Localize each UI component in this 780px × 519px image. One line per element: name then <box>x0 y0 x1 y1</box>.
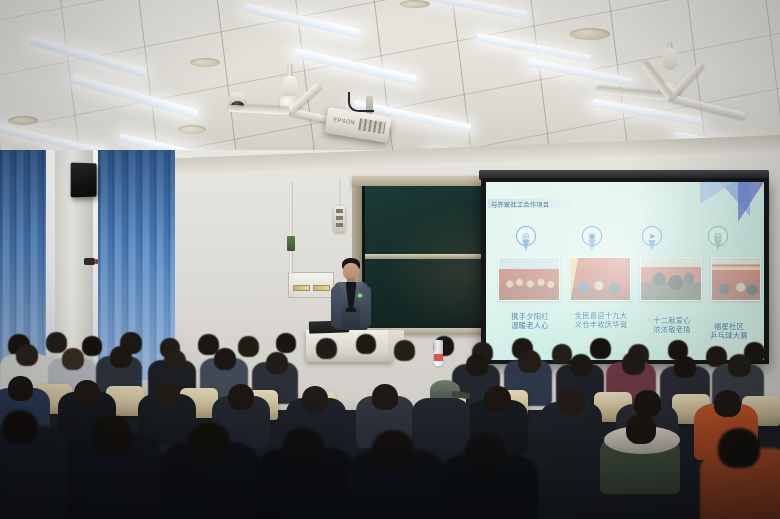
audience-head <box>92 416 132 454</box>
power-socket <box>336 216 343 220</box>
audience-head <box>276 333 296 353</box>
pin-glyph-pointer-icon: ➤ <box>648 231 655 240</box>
audience-head <box>82 336 102 356</box>
fan-mount-plate <box>178 125 206 134</box>
slide-caption-1: 携手夕阳红 温暖老人心 <box>492 312 568 331</box>
projector-cable <box>348 92 374 112</box>
slide-photo-3 <box>640 257 702 301</box>
fan-blade <box>669 94 746 120</box>
photo-projection-wash <box>499 258 559 300</box>
caption-line-1: 全民喜迎十九大 <box>562 311 640 320</box>
audience-head <box>674 356 696 378</box>
presenter-badge <box>358 294 362 297</box>
lecture-hall-photo: EPSON <box>0 0 780 519</box>
pin-marker-1: ◎ <box>516 226 536 252</box>
audience-head <box>728 354 751 377</box>
fan-mount-plate <box>400 0 430 8</box>
presenter-arm-left <box>331 286 342 328</box>
water-bottle <box>434 340 443 366</box>
fan-canopy <box>663 48 677 70</box>
fan-canopy <box>283 76 297 98</box>
audience-head <box>8 376 33 401</box>
wall-speaker <box>71 163 97 198</box>
audience-head <box>214 348 236 370</box>
audience-head <box>518 350 541 373</box>
notice-row <box>293 285 310 291</box>
bottle-label <box>434 354 443 361</box>
audience-head <box>718 428 760 468</box>
audience-head <box>590 338 611 359</box>
audience-head <box>316 338 337 359</box>
presenter-arm-right <box>360 286 371 328</box>
audience-head <box>154 382 180 408</box>
slide-photo-1 <box>498 257 560 301</box>
pin-glyph-folder-icon: ▣ <box>588 231 596 240</box>
pin-marker-3: ➤ <box>642 226 662 252</box>
wall-junction-box <box>287 236 295 251</box>
audience-head <box>282 428 324 468</box>
caption-line-1: 携手夕阳红 <box>492 312 568 321</box>
audience-head <box>74 380 100 406</box>
slide-decoration-triangle <box>738 182 764 222</box>
wall-conduit-pipe <box>289 182 293 274</box>
audience-head <box>266 352 288 374</box>
audience-head <box>302 386 328 412</box>
ceiling-fan <box>600 42 740 122</box>
audience-head <box>16 344 38 366</box>
slide-pin-row: ◎ ▣ ➤ ▤ <box>486 226 764 254</box>
slide-decoration-triangle <box>700 182 734 204</box>
audience-head <box>356 334 376 354</box>
audience-head <box>464 434 506 474</box>
audience-head <box>62 348 84 370</box>
photo-projection-wash <box>641 258 701 300</box>
audience-head <box>466 354 488 376</box>
pin-marker-2: ▣ <box>582 226 602 252</box>
power-strip-wire <box>339 178 341 208</box>
audience-head <box>634 390 661 417</box>
audience-head <box>626 414 656 444</box>
audience-torso <box>412 398 470 450</box>
audience-head <box>394 340 415 361</box>
audience-head <box>164 350 186 372</box>
pin-glyph-image-icon: ▤ <box>714 231 722 240</box>
power-socket <box>336 209 343 213</box>
projector-vent <box>358 118 386 134</box>
audience-head <box>570 354 592 376</box>
fan-mount-plate <box>8 116 38 125</box>
pin-glyph-target-icon: ◎ <box>522 231 529 240</box>
projector-brand-label: EPSON <box>333 117 355 126</box>
fan-mount-plate <box>190 58 220 67</box>
audience-head <box>372 430 414 470</box>
audience-head <box>558 388 585 415</box>
slide-photo-4 <box>711 257 761 301</box>
audience-head <box>46 332 67 353</box>
audience-head <box>238 336 259 357</box>
audience-head <box>714 390 741 417</box>
audience <box>0 330 780 519</box>
audience-head <box>110 346 132 368</box>
slide-caption-2: 全民喜迎十九大 义仓丰收庆华诞 <box>562 311 640 330</box>
caption-line-2: 义仓丰收庆华诞 <box>562 320 640 329</box>
slide-title: 与齐家社工合作项目 <box>491 200 549 209</box>
audience-head <box>2 410 38 444</box>
power-socket <box>336 223 343 227</box>
audience-head <box>552 344 572 364</box>
audience-head <box>372 384 398 410</box>
audience-head <box>228 384 254 410</box>
audience-head <box>622 352 645 375</box>
photo-projection-wash <box>712 258 760 300</box>
slide-photo-row <box>486 257 764 305</box>
power-strip <box>334 206 345 232</box>
fan-mount-plate <box>570 28 610 40</box>
audience-head <box>484 386 511 413</box>
photo-projection-wash <box>570 258 630 300</box>
slide-photo-2 <box>569 257 631 301</box>
pin-marker-4: ▤ <box>708 226 728 252</box>
audience-head <box>188 422 230 462</box>
